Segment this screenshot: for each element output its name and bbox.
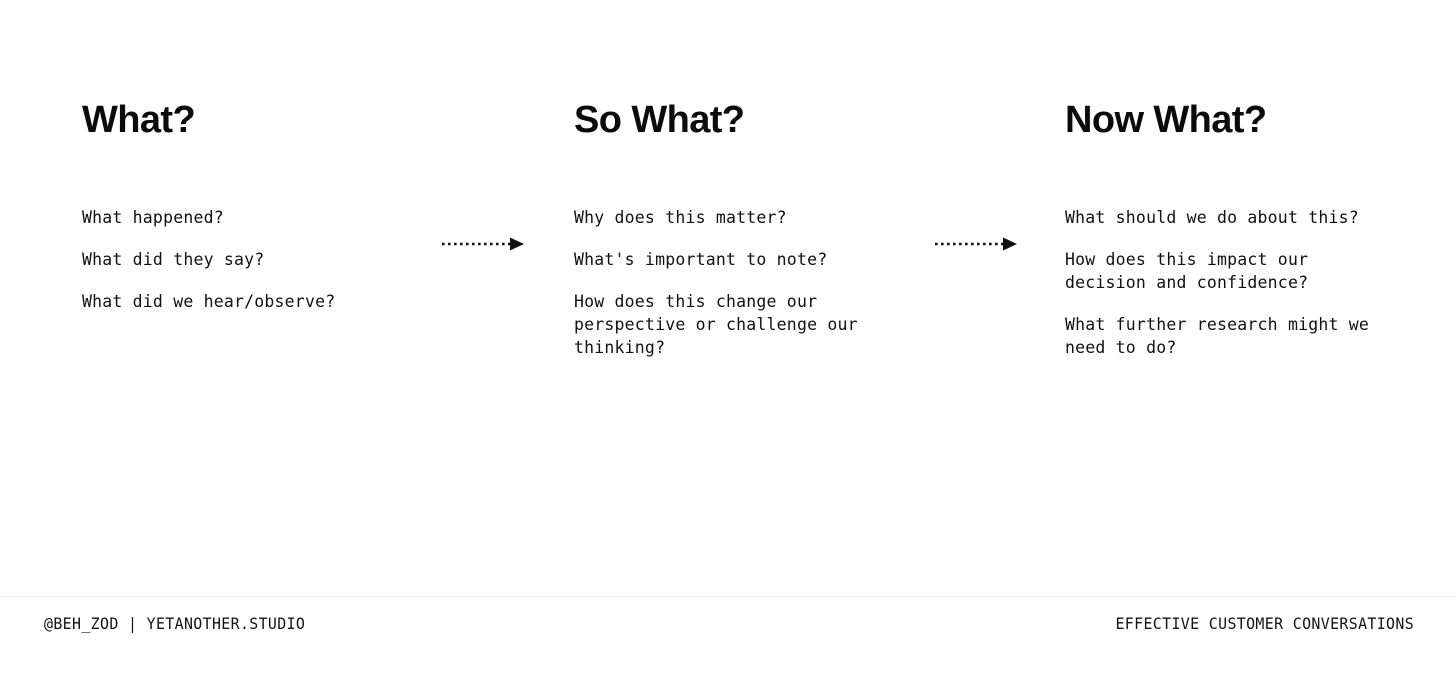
- column-question-list: What happened? What did they say? What d…: [82, 206, 422, 313]
- footer-deck-title: EFFECTIVE CUSTOMER CONVERSATIONS: [1115, 612, 1414, 636]
- column-question-list: What should we do about this? How does t…: [1065, 206, 1385, 359]
- dotted-arrow-right-icon: [933, 236, 1019, 252]
- column-now-what: Now What? What should we do about this? …: [1065, 98, 1385, 359]
- list-item: What did we hear/observe?: [82, 290, 422, 313]
- slide-canvas: What? What happened? What did they say? …: [0, 0, 1456, 688]
- column-heading: So What?: [574, 98, 894, 142]
- column-heading: Now What?: [1065, 98, 1385, 142]
- list-item: What further research might we need to d…: [1065, 313, 1385, 359]
- list-item: What did they say?: [82, 248, 422, 271]
- list-item: What happened?: [82, 206, 422, 229]
- column-what: What? What happened? What did they say? …: [82, 98, 422, 313]
- footer-credit: @BEH_ZOD | YETANOTHER.STUDIO: [44, 612, 305, 636]
- list-item: What should we do about this?: [1065, 206, 1385, 229]
- list-item: How does this impact our decision and co…: [1065, 248, 1385, 294]
- column-question-list: Why does this matter? What's important t…: [574, 206, 894, 359]
- list-item: How does this change our perspective or …: [574, 290, 894, 359]
- footer: @BEH_ZOD | YETANOTHER.STUDIO EFFECTIVE C…: [0, 612, 1456, 660]
- dotted-arrow-right-icon: [440, 236, 526, 252]
- column-so-what: So What? Why does this matter? What's im…: [574, 98, 894, 359]
- list-item: What's important to note?: [574, 248, 894, 271]
- columns-container: What? What happened? What did they say? …: [0, 0, 1456, 560]
- list-item: Why does this matter?: [574, 206, 894, 229]
- column-heading: What?: [82, 98, 422, 142]
- footer-divider: [0, 596, 1456, 597]
